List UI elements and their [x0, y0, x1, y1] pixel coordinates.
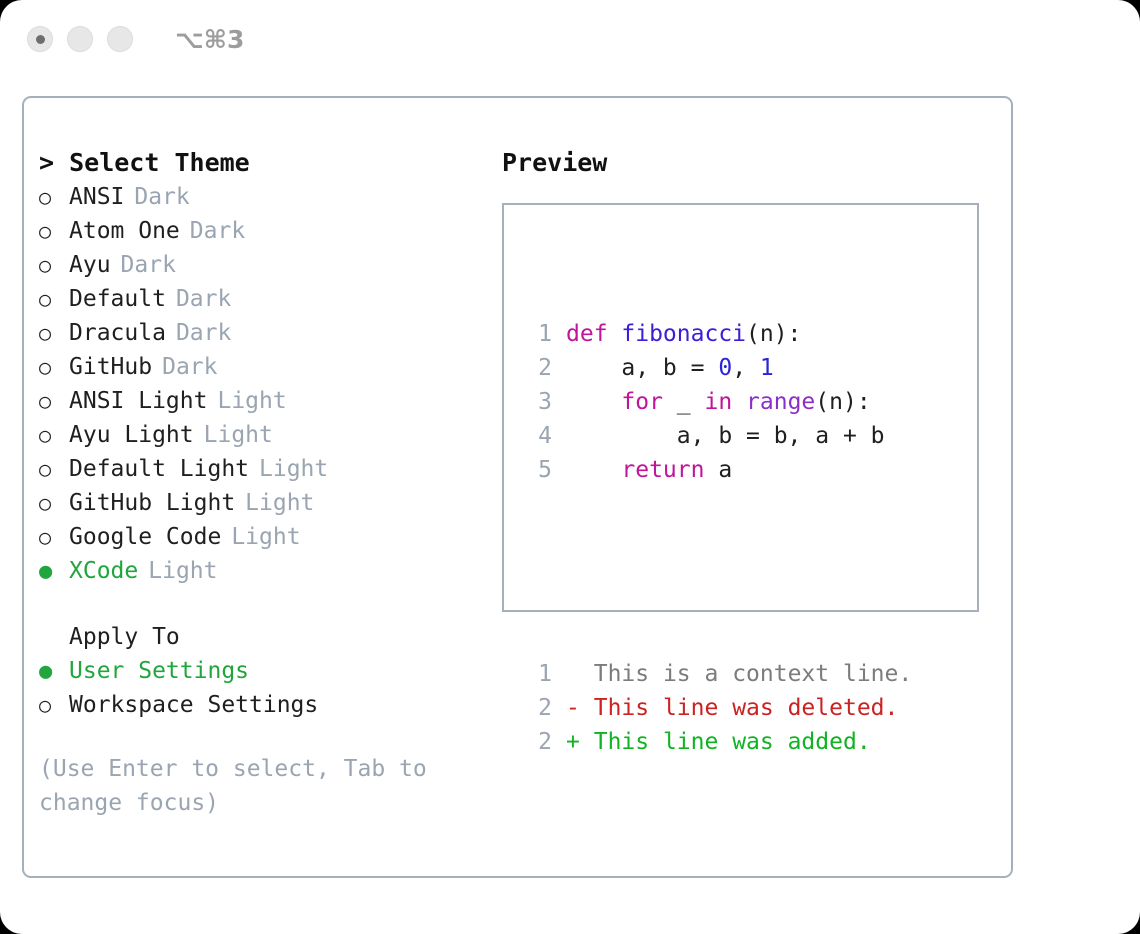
theme-name-label: Ayu Light — [69, 418, 194, 452]
theme-variant-tag: Light — [148, 554, 217, 588]
theme-name-label: GitHub — [69, 350, 152, 384]
theme-variant-tag: Dark — [176, 282, 231, 316]
radio-unselected-icon[interactable]: ○ — [39, 688, 69, 722]
theme-variant-tag: Dark — [190, 214, 245, 248]
code-token: a — [704, 457, 732, 483]
spacer-before-apply-to — [39, 588, 489, 620]
title-bar: ⌥⌘3 — [0, 0, 1140, 78]
diff-text: This line was deleted. — [594, 691, 899, 725]
theme-name-label: Google Code — [69, 520, 221, 554]
code-token: (n): — [815, 389, 870, 415]
line-number: 1 — [520, 657, 552, 691]
window-dot-active[interactable] — [27, 26, 53, 52]
apply-to-option[interactable]: ●User Settings — [39, 654, 489, 688]
theme-list-item[interactable]: ○Default LightLight — [39, 452, 489, 486]
theme-name-label: ANSI Light — [69, 384, 207, 418]
theme-variant-tag: Dark — [162, 350, 217, 384]
diff-line: 2- This line was deleted. — [520, 691, 912, 725]
code-token: in — [704, 389, 732, 415]
settings-card: > Select Theme ○ANSIDark○Atom OneDark○Ay… — [22, 96, 1013, 878]
diff-text: This line was added. — [594, 725, 871, 759]
line-number: 5 — [520, 453, 552, 487]
theme-name-label: Default — [69, 282, 166, 316]
theme-list-item[interactable]: ○ANSI LightLight — [39, 384, 489, 418]
theme-picker-panel: > Select Theme ○ANSIDark○Atom OneDark○Ay… — [39, 146, 489, 820]
theme-variant-tag: Light — [217, 384, 286, 418]
window-dot-third[interactable] — [107, 26, 133, 52]
preview-header: Preview — [502, 146, 992, 180]
code-token: fibonacci — [621, 321, 746, 347]
theme-variant-tag: Light — [259, 452, 328, 486]
app-window: ⌥⌘3 > Select Theme ○ANSIDark○Atom OneDar… — [0, 0, 1140, 934]
code-token: 0 — [718, 355, 732, 381]
line-number: 1 — [520, 317, 552, 351]
theme-list-item[interactable]: ○GitHubDark — [39, 350, 489, 384]
theme-list-item[interactable]: ○ANSIDark — [39, 180, 489, 214]
radio-unselected-icon[interactable]: ○ — [39, 248, 69, 282]
code-line-content: return a — [566, 453, 732, 487]
keyboard-shortcut-label: ⌥⌘3 — [175, 25, 244, 54]
apply-to-header: Apply To — [39, 620, 489, 654]
theme-variant-tag: Dark — [121, 248, 176, 282]
line-number: 2 — [520, 691, 552, 725]
code-token: range — [746, 389, 815, 415]
theme-variant-tag: Dark — [176, 316, 231, 350]
preview-code: 1def fibonacci(n):2 a, b = 0, 13 for _ i… — [520, 249, 912, 827]
diff-marker-gap — [580, 691, 594, 725]
apply-to-options: ●User Settings○Workspace Settings — [39, 654, 489, 722]
theme-list-item[interactable]: ○GitHub LightLight — [39, 486, 489, 520]
diff-marker-gap — [580, 725, 594, 759]
code-token: a, b = b, a + b — [566, 423, 885, 449]
theme-variant-tag: Light — [204, 418, 273, 452]
theme-name-label: GitHub Light — [69, 486, 235, 520]
theme-variant-tag: Dark — [134, 180, 189, 214]
theme-list-item[interactable]: ●XCodeLight — [39, 554, 489, 588]
diff-text: This is a context line. — [594, 657, 913, 691]
diff-line: 1 This is a context line. — [520, 657, 912, 691]
code-lines: 1def fibonacci(n):2 a, b = 0, 13 for _ i… — [520, 317, 912, 487]
radio-selected-icon[interactable]: ● — [39, 555, 69, 589]
preview-box: 1def fibonacci(n):2 a, b = 0, 13 for _ i… — [502, 203, 979, 612]
line-number: 3 — [520, 385, 552, 419]
radio-unselected-icon[interactable]: ○ — [39, 180, 69, 214]
window-dot-second[interactable] — [67, 26, 93, 52]
code-token: , — [732, 355, 760, 381]
code-diff-separator — [520, 555, 912, 589]
theme-list: ○ANSIDark○Atom OneDark○AyuDark○DefaultDa… — [39, 180, 489, 588]
radio-unselected-icon[interactable]: ○ — [39, 316, 69, 350]
apply-to-option[interactable]: ○Workspace Settings — [39, 688, 489, 722]
theme-variant-tag: Light — [245, 486, 314, 520]
diff-line: 2+ This line was added. — [520, 725, 912, 759]
diff-marker-gap — [580, 657, 594, 691]
theme-list-item[interactable]: ○DraculaDark — [39, 316, 489, 350]
theme-list-item[interactable]: ○Ayu LightLight — [39, 418, 489, 452]
theme-name-label: ANSI — [69, 180, 124, 214]
theme-list-item[interactable]: ○AyuDark — [39, 248, 489, 282]
radio-unselected-icon[interactable]: ○ — [39, 418, 69, 452]
code-token — [566, 457, 621, 483]
line-number: 2 — [520, 725, 552, 759]
line-number: 2 — [520, 351, 552, 385]
code-line: 5 return a — [520, 453, 912, 487]
code-token — [566, 389, 621, 415]
radio-unselected-icon[interactable]: ○ — [39, 486, 69, 520]
theme-list-item[interactable]: ○DefaultDark — [39, 282, 489, 316]
code-line-content: def fibonacci(n): — [566, 317, 801, 351]
diff-marker: - — [566, 691, 580, 725]
theme-list-item[interactable]: ○Google CodeLight — [39, 520, 489, 554]
code-token: a, b = — [566, 355, 718, 381]
theme-name-label: Dracula — [69, 316, 166, 350]
radio-unselected-icon[interactable]: ○ — [39, 384, 69, 418]
code-line: 3 for _ in range(n): — [520, 385, 912, 419]
spacer-before-hint — [39, 722, 489, 752]
theme-list-item[interactable]: ○Atom OneDark — [39, 214, 489, 248]
code-line: 1def fibonacci(n): — [520, 317, 912, 351]
theme-name-label: Atom One — [69, 214, 180, 248]
code-token: for — [621, 389, 663, 415]
select-theme-header: > Select Theme — [39, 146, 489, 180]
diff-lines: 1 This is a context line.2- This line wa… — [520, 657, 912, 759]
code-token: def — [566, 321, 621, 347]
code-token: (n): — [746, 321, 801, 347]
radio-unselected-icon[interactable]: ○ — [39, 214, 69, 248]
diff-marker — [566, 657, 580, 691]
code-line: 2 a, b = 0, 1 — [520, 351, 912, 385]
code-token — [732, 389, 746, 415]
window-dot-active-indicator — [36, 35, 45, 44]
theme-name-label: Ayu — [69, 248, 111, 282]
radio-unselected-icon[interactable]: ○ — [39, 350, 69, 384]
radio-selected-icon[interactable]: ● — [39, 655, 69, 689]
radio-unselected-icon[interactable]: ○ — [39, 520, 69, 554]
diff-marker: + — [566, 725, 580, 759]
code-token: _ — [663, 389, 705, 415]
code-line: 4 a, b = b, a + b — [520, 419, 912, 453]
preview-panel-header-wrap: Preview — [502, 146, 992, 180]
code-token: return — [621, 457, 704, 483]
theme-name-label: XCode — [69, 554, 138, 588]
line-number: 4 — [520, 419, 552, 453]
apply-to-label: Workspace Settings — [69, 688, 318, 722]
code-line-content: a, b = 0, 1 — [566, 351, 774, 385]
theme-name-label: Default Light — [69, 452, 249, 486]
code-line-content: for _ in range(n): — [566, 385, 871, 419]
theme-variant-tag: Light — [231, 520, 300, 554]
keyboard-hint: (Use Enter to select, Tab to change focu… — [39, 752, 444, 820]
apply-to-label: User Settings — [69, 654, 249, 688]
radio-unselected-icon[interactable]: ○ — [39, 282, 69, 316]
code-line-content: a, b = b, a + b — [566, 419, 885, 453]
radio-unselected-icon[interactable]: ○ — [39, 452, 69, 486]
code-token: 1 — [760, 355, 774, 381]
